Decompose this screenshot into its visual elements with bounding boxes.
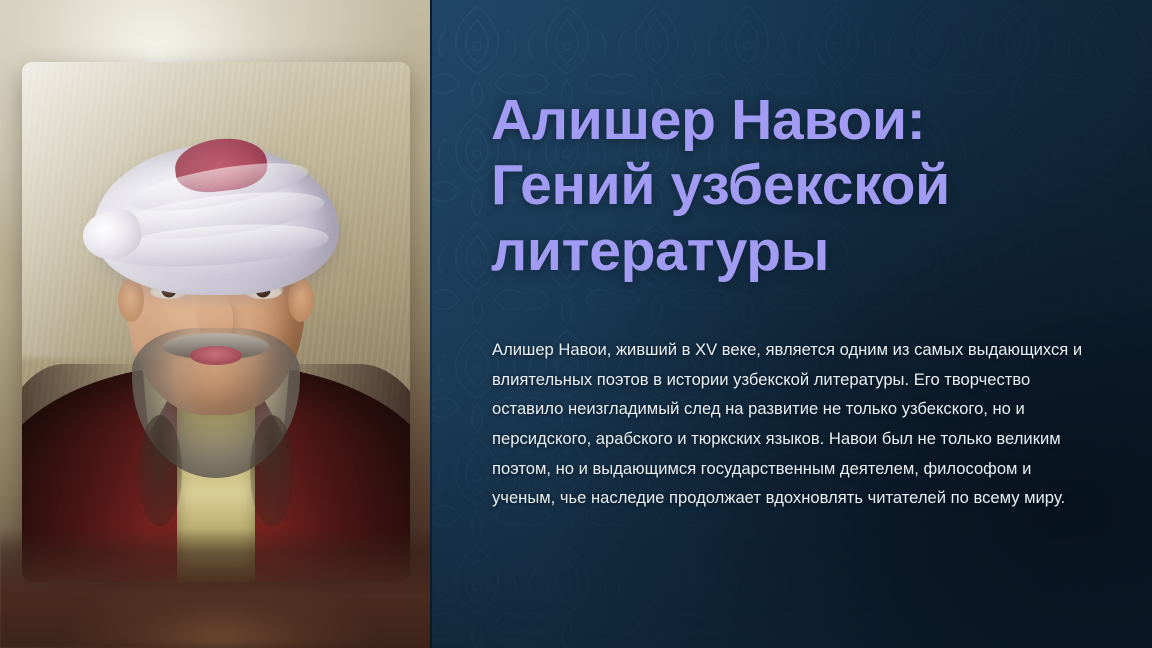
page-title: Алишер Навои: Гений узбекской литературы xyxy=(491,88,1105,284)
beard-shadow-left xyxy=(138,415,182,527)
portrait-panel xyxy=(0,0,432,648)
portrait-image xyxy=(22,62,410,582)
painting-canvas xyxy=(22,62,410,582)
beard-shadow-right xyxy=(250,415,294,527)
body-paragraph: Алишер Навои, живший в XV веке, является… xyxy=(492,335,1097,513)
slide-content: Алишер Навои: Гений узбекской литературы… xyxy=(491,0,1105,648)
text-panel: Алишер Навои: Гений узбекской литературы… xyxy=(432,0,1152,648)
canvas-gloss-highlight xyxy=(22,62,313,358)
table-reflection xyxy=(70,578,370,648)
presentation-slide: Алишер Навои: Гений узбекской литературы… xyxy=(0,0,1152,648)
